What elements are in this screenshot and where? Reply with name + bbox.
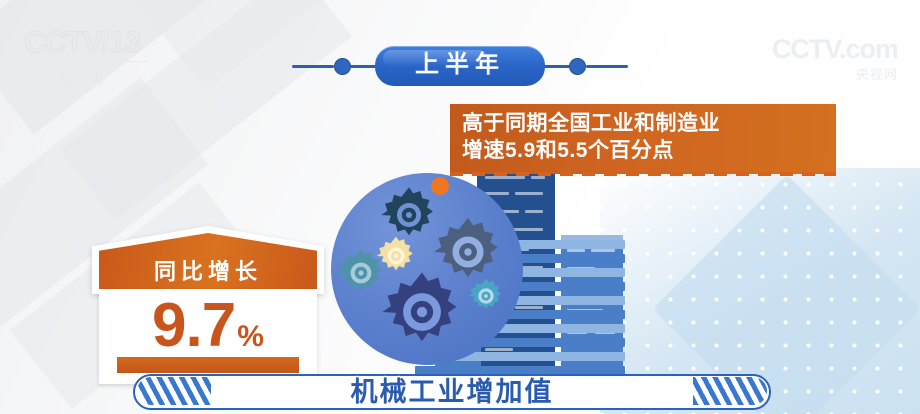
callout-line-1: 高于同期全国工业和制造业 [462, 111, 824, 138]
comparison-callout: 高于同期全国工业和制造业 增速5.9和5.5个百分点 [450, 104, 836, 174]
card-roof: 同比增长 [92, 226, 324, 294]
banner-label: 上半年 [415, 53, 505, 77]
period-banner: 上半年 [292, 46, 628, 86]
cctv-com-wordmark: CCTV.com [772, 36, 898, 63]
cctv13-logo-text: CCTV/13 [24, 28, 148, 58]
domain-text: .com [839, 34, 898, 64]
callout-line-2: 增速5.9和5.5个百分点 [462, 138, 824, 165]
banner-pill: 上半年 [375, 46, 545, 86]
card-value: 9.7% [99, 295, 317, 357]
gear-icon [379, 269, 465, 355]
banner-line-right [586, 65, 628, 68]
percent-sign: % [237, 320, 264, 353]
growth-value: 9.7 [152, 291, 235, 360]
infographic-stage: CCTV/13 新闻 CCTV.com 央视网 上半年 高于同期全国工业和制造业… [0, 0, 920, 414]
channel-number: 13 [109, 26, 140, 59]
banner-link-right [545, 65, 569, 68]
footer-title: 机械工业增加值 [133, 376, 771, 408]
cctv13-logo-subtitle: 新闻 [24, 61, 148, 90]
card-body: 9.7% [99, 289, 317, 384]
banner-dot-left [334, 58, 351, 75]
gear-icon [467, 277, 505, 315]
cctv-brand-text: CCTV [772, 34, 839, 64]
card-label: 同比增长 [92, 254, 324, 286]
banner-dot-right [569, 58, 586, 75]
banner-link-left [351, 65, 375, 68]
cctv-wordmark: CCTV [24, 26, 102, 59]
growth-stat-card: 同比增长 9.7% [92, 226, 324, 384]
footer-title-bar: 机械工业增加值 [133, 374, 771, 410]
cctv-com-watermark: CCTV.com 央视网 [772, 36, 898, 83]
callout-dashed-underline [450, 172, 836, 176]
gear-circle-illustration [331, 173, 523, 365]
card-footer-bar [117, 357, 299, 373]
banner-line-left [292, 65, 334, 68]
cctv13-logo-watermark: CCTV/13 新闻 [24, 28, 148, 90]
cctv-com-chinese: 央视网 [772, 64, 898, 83]
